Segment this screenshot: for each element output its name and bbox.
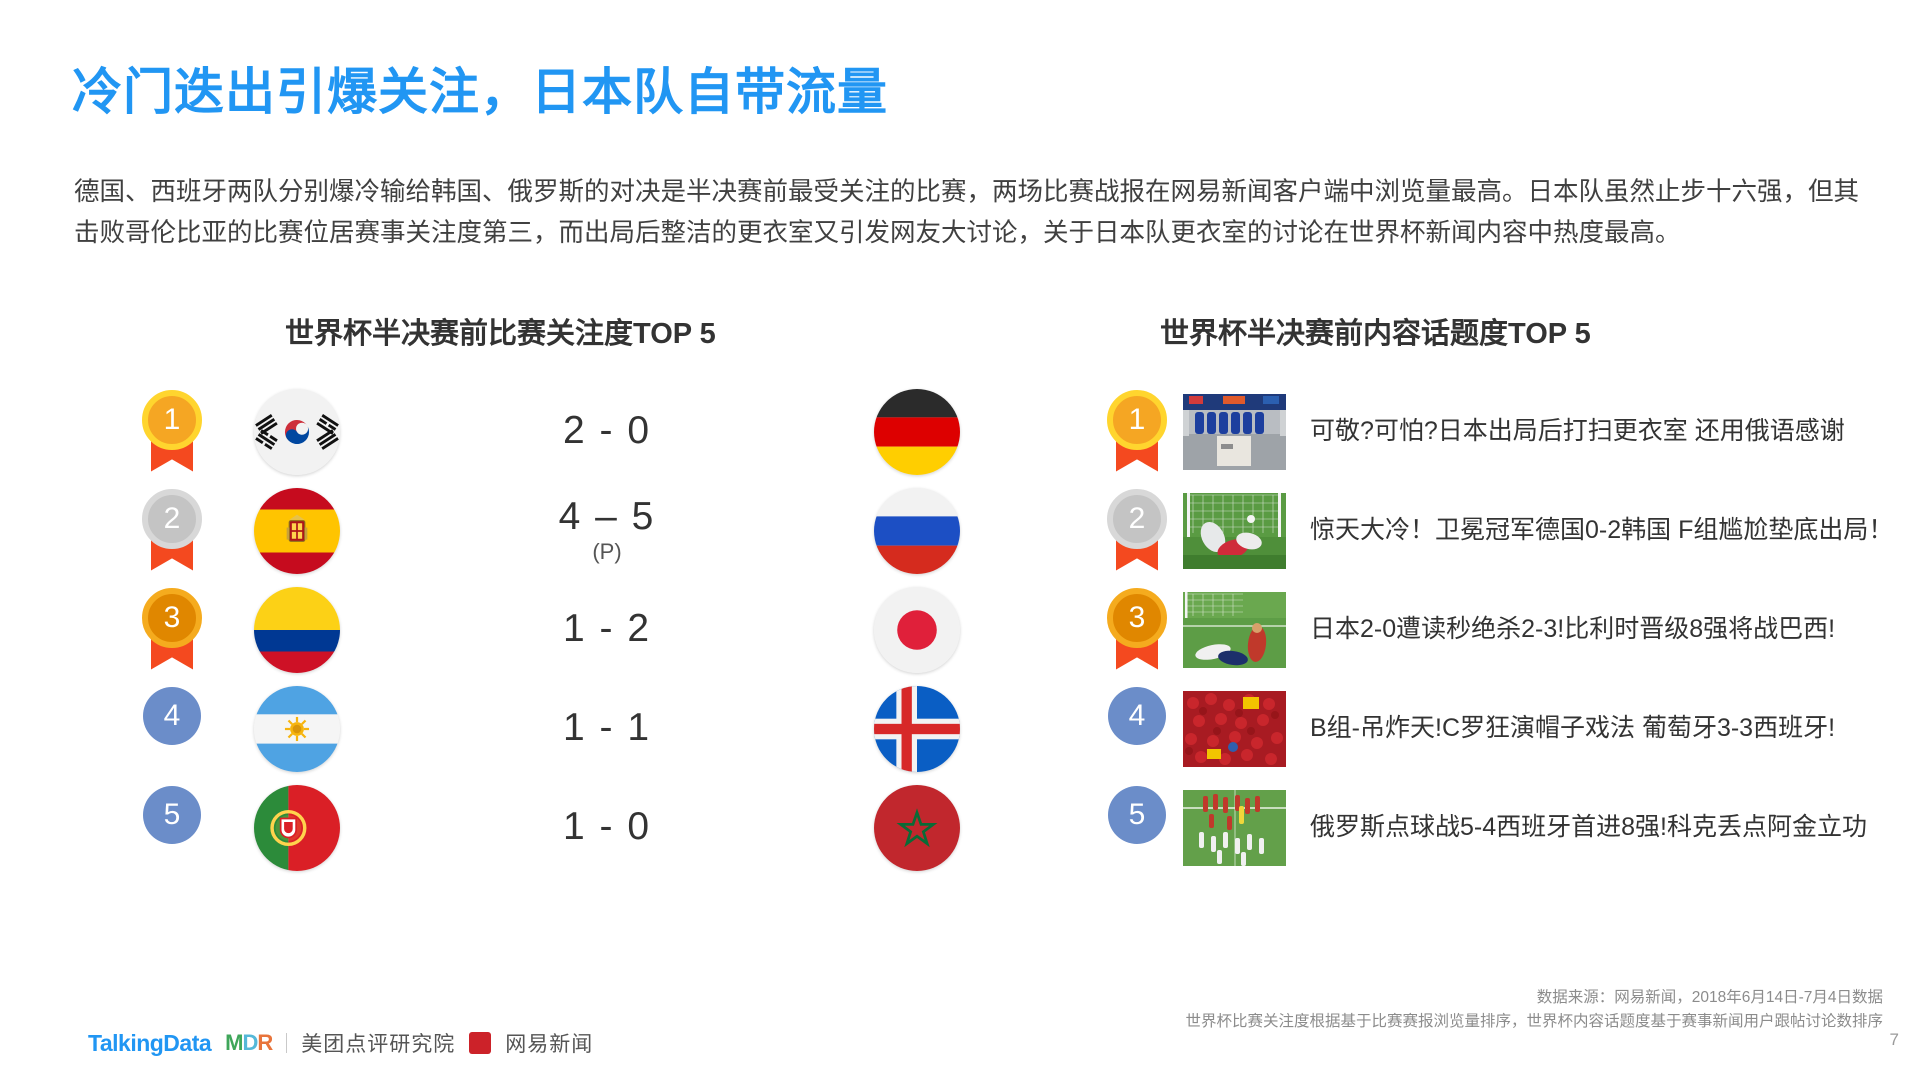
match-score: 1 - 0 bbox=[340, 807, 874, 848]
rank-number: 1 bbox=[1107, 390, 1167, 450]
netease-news-label: 网易新闻 bbox=[505, 1028, 593, 1058]
logo-divider bbox=[286, 1033, 287, 1053]
rank-number: 3 bbox=[1107, 588, 1167, 648]
rank-number: 5 bbox=[1108, 786, 1166, 844]
flag-icon-russia bbox=[874, 488, 960, 574]
rank-badge-3: 3 bbox=[1105, 588, 1169, 672]
flag-icon-morocco bbox=[874, 785, 960, 871]
flag-icon-iceland bbox=[874, 686, 960, 772]
match-score: 4 – 5(P) bbox=[340, 497, 874, 563]
topic-row[interactable]: 5 俄罗斯点球战5-4西班牙首进8强!科克丢点阿金立功 bbox=[1105, 778, 1895, 877]
rank-badge-1: 1 bbox=[140, 390, 204, 474]
rank-number: 2 bbox=[1107, 489, 1167, 549]
match-row[interactable]: 4 1 - 1 bbox=[140, 679, 960, 778]
rank-badge-2: 2 bbox=[1105, 489, 1169, 573]
rank-badge-3: 3 bbox=[140, 588, 204, 672]
topic-row[interactable]: 4 B组-吊炸天!C罗狂演帽子戏法 葡萄牙3-3西班牙! bbox=[1105, 679, 1895, 778]
rank-badge-1: 1 bbox=[1105, 390, 1169, 474]
footer-logos: TalkingData MDR 美团点评研究院 网易新闻 bbox=[88, 1028, 593, 1058]
match-score: 1 - 1 bbox=[340, 708, 874, 749]
rank-badge-4: 4 bbox=[1105, 687, 1169, 771]
match-score: 2 - 0 bbox=[340, 411, 874, 452]
flag-icon-japan bbox=[874, 587, 960, 673]
rank-number: 4 bbox=[1108, 687, 1166, 745]
meituan-research-label: 美团点评研究院 bbox=[301, 1028, 455, 1058]
flag-icon-spain bbox=[254, 488, 340, 574]
source-note: 数据来源：网易新闻，2018年6月14日-7月4日数据 世界杯比赛关注度根据基于… bbox=[1185, 986, 1883, 1034]
thumbnail-penalty-huddle-photo bbox=[1183, 790, 1286, 866]
source-line-2: 世界杯比赛关注度根据基于比赛赛报浏览量排序，世界杯内容话题度基于赛事新闻用户跟帖… bbox=[1185, 1010, 1883, 1034]
flag-icon-portugal bbox=[254, 785, 340, 871]
thumbnail-pitch-celebration-photo bbox=[1183, 592, 1286, 668]
mdr-letter-m: M bbox=[225, 1030, 242, 1055]
rank-number: 2 bbox=[142, 489, 202, 549]
rank-number: 3 bbox=[142, 588, 202, 648]
left-panel-heading: 世界杯半决赛前比赛关注度TOP 5 bbox=[285, 310, 716, 352]
match-row[interactable]: 5 1 - 0 bbox=[140, 778, 960, 877]
rank-number: 1 bbox=[142, 390, 202, 450]
topic-row[interactable]: 1 可敬?可怕?日本出局后打扫更衣室 还用俄语感谢 bbox=[1105, 382, 1895, 481]
mdr-logo: MDR bbox=[225, 1030, 272, 1056]
topic-headline: 日本2-0遭读秒绝杀2-3!比利时晋级8强将战巴西! bbox=[1310, 612, 1835, 648]
source-line-1: 数据来源：网易新闻，2018年6月14日-7月4日数据 bbox=[1185, 986, 1883, 1010]
rank-badge-4: 4 bbox=[140, 687, 204, 771]
topic-headline: 俄罗斯点球战5-4西班牙首进8强!科克丢点阿金立功 bbox=[1310, 810, 1867, 846]
rank-badge-2: 2 bbox=[140, 489, 204, 573]
topic-headline: B组-吊炸天!C罗狂演帽子戏法 葡萄牙3-3西班牙! bbox=[1310, 711, 1835, 747]
topic-row[interactable]: 2 惊天大冷！卫冕冠军德国0-2韩国 F组尴尬垫底出局！ bbox=[1105, 481, 1895, 580]
flag-icon-colombia bbox=[254, 587, 340, 673]
match-score: 1 - 2 bbox=[340, 609, 874, 650]
topic-headline: 可敬?可怕?日本出局后打扫更衣室 还用俄语感谢 bbox=[1310, 414, 1845, 450]
rank-badge-5: 5 bbox=[140, 786, 204, 870]
mdr-letter-d: D bbox=[242, 1030, 257, 1055]
mdr-letter-r: R bbox=[257, 1030, 272, 1055]
match-row[interactable]: 2 4 – 5(P) bbox=[140, 481, 960, 580]
rank-number: 5 bbox=[143, 786, 201, 844]
slide-summary-paragraph: 德国、西班牙两队分别爆冷输给韩国、俄罗斯的对决是半决赛前最受关注的比赛，两场比赛… bbox=[74, 172, 1864, 255]
penalty-note: (P) bbox=[340, 540, 874, 563]
flag-icon-argentina bbox=[254, 686, 340, 772]
topic-row[interactable]: 3 日本2-0遭读秒绝杀2-3!比利时晋级8强将战巴西! bbox=[1105, 580, 1895, 679]
netease-mark-icon bbox=[469, 1032, 491, 1054]
topic-headline: 惊天大冷！卫冕冠军德国0-2韩国 F组尴尬垫底出局！ bbox=[1310, 513, 1893, 549]
rank-number: 4 bbox=[143, 687, 201, 745]
match-ranking-list: 1 2 - 0 2 4 – 5(P) bbox=[140, 382, 960, 877]
page-number: 7 bbox=[1890, 1030, 1899, 1050]
flag-icon-south-korea bbox=[254, 389, 340, 475]
thumbnail-goal-mouth-photo bbox=[1183, 493, 1286, 569]
right-panel-heading: 世界杯半决赛前内容话题度TOP 5 bbox=[1160, 310, 1591, 352]
talkingdata-logo: TalkingData bbox=[88, 1030, 211, 1057]
thumbnail-red-crowd-photo bbox=[1183, 691, 1286, 767]
topic-ranking-list: 1 可敬?可怕?日本出局后打扫更衣室 还用俄语感谢 2 bbox=[1105, 382, 1895, 877]
match-row[interactable]: 1 2 - 0 bbox=[140, 382, 960, 481]
match-row[interactable]: 3 1 - 2 bbox=[140, 580, 960, 679]
page-title: 冷门迭出引爆关注，日本队自带流量 bbox=[72, 62, 888, 122]
thumbnail-locker-room-photo bbox=[1183, 394, 1286, 470]
rank-badge-5: 5 bbox=[1105, 786, 1169, 870]
flag-icon-germany bbox=[874, 389, 960, 475]
